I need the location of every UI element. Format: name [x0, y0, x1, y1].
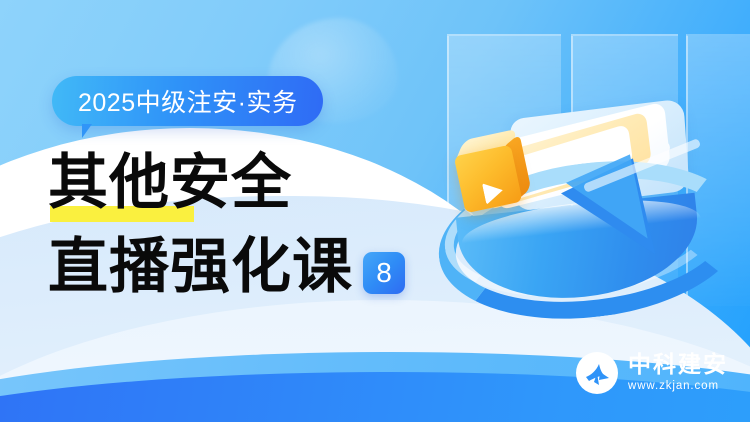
brand-url: www.zkjan.com	[628, 379, 728, 394]
course-title-line-1: 其他安全	[48, 148, 405, 220]
cube-front-face	[454, 145, 523, 214]
course-category-label: 2025中级注安·实务	[78, 83, 297, 119]
course-title-line-2: 直播强化课 8	[48, 230, 405, 302]
course-title-text-2: 直播强化课	[48, 232, 353, 302]
course-title-text-1: 其他安全	[48, 148, 292, 218]
brand-logo-text: 中科建安 www.zkjan.com	[628, 353, 728, 394]
badge-tail-pointer	[82, 124, 102, 138]
brand-name: 中科建安	[628, 353, 728, 378]
course-banner: 2025中级注安·实务 其他安全 直播强化课 8 中科建安 www.zkjan.…	[0, 0, 750, 422]
course-illustration	[430, 85, 740, 335]
course-title-block: 其他安全 直播强化课 8	[48, 148, 405, 302]
episode-number-badge: 8	[363, 252, 405, 294]
course-category-badge: 2025中级注安·实务	[52, 76, 323, 126]
play-cube-icon	[447, 128, 537, 218]
zkjan-circle-logo-icon	[576, 352, 618, 394]
brand-logo: 中科建安 www.zkjan.com	[576, 352, 728, 394]
play-triangle-icon	[482, 179, 505, 204]
